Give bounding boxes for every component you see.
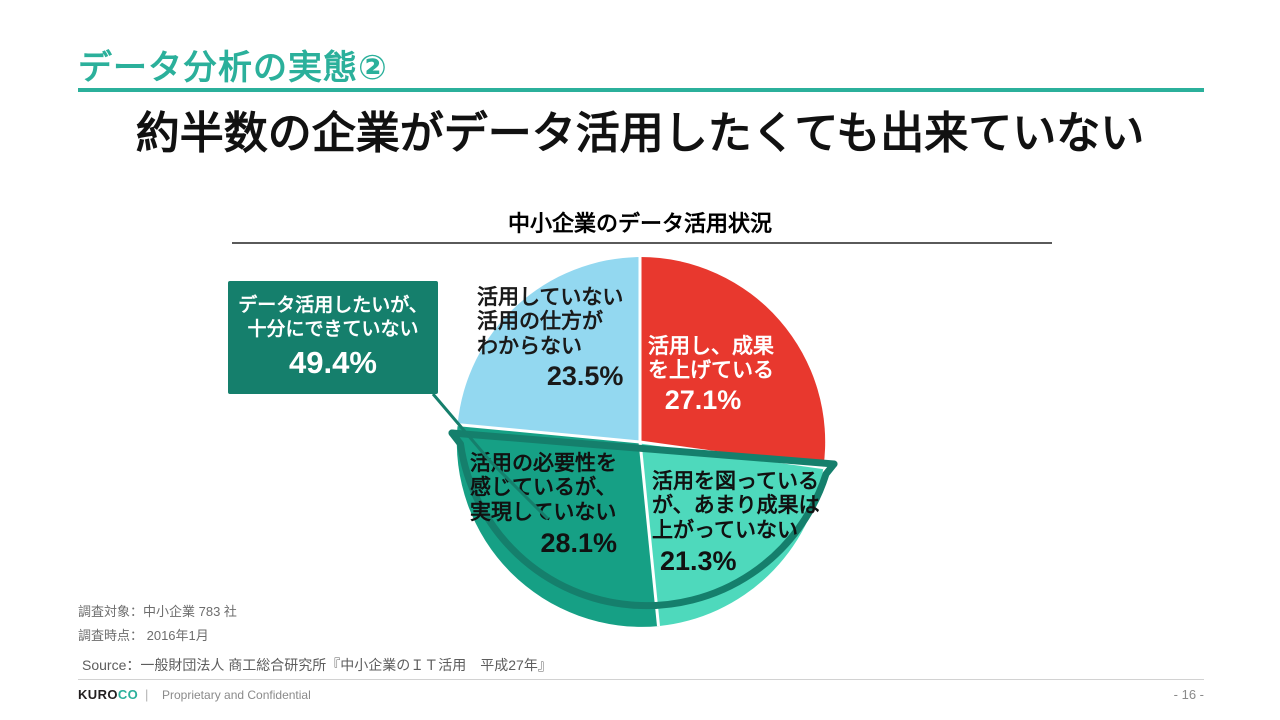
slide-headline: 約半数の企業がデータ活用したくても出来ていない — [0, 97, 1280, 161]
slice-label-blue-line1: 活用していない — [477, 286, 623, 310]
slice-label-green-line1: 活用の必要性を — [470, 452, 617, 476]
footer-divider — [78, 679, 1204, 680]
page-number: - 16 - — [1120, 687, 1204, 702]
slice-label-green-line2: 感じているが、 — [470, 476, 617, 500]
survey-note-date: 調査時点： 2016年1月 — [78, 624, 237, 648]
slice-label-teal-line2: が、あまり成果は — [652, 494, 820, 518]
callout-percent: 49.4% — [289, 345, 377, 381]
slice-label-green: 活用の必要性を 感じているが、 実現していない 28.1% — [470, 452, 617, 559]
footer-logo-accent: CO — [118, 687, 138, 702]
slice-value-red: 27.1% — [648, 385, 774, 416]
slice-value-blue: 23.5% — [477, 361, 623, 392]
header-divider — [78, 88, 1204, 92]
slice-label-red-line1: 活用し、成果 — [648, 335, 774, 359]
slice-label-blue-line3: わからない — [477, 335, 623, 359]
slide: データ分析の実態② 約半数の企業がデータ活用したくても出来ていない 中小企業のデ… — [0, 0, 1280, 720]
footer-logo: KUROCO — [78, 687, 138, 702]
slice-label-blue: 活用していない 活用の仕方が わからない 23.5% — [477, 286, 623, 392]
callout-highlight: データ活用したいが、 十分にできていない 49.4% — [228, 281, 438, 394]
chart-title: 中小企業のデータ活用状況 — [0, 206, 1280, 238]
slice-label-teal-line3: 上がっていない — [652, 519, 820, 543]
survey-note-target: 調査対象：中小企業 783 社 — [78, 600, 237, 624]
slice-value-teal: 21.3% — [652, 546, 820, 577]
slice-label-red: 活用し、成果 を上げている 27.1% — [648, 335, 774, 416]
footer-separator: | — [145, 687, 148, 702]
slice-label-blue-line2: 活用の仕方が — [477, 310, 623, 334]
slice-label-green-line3: 実現していない — [470, 501, 617, 525]
callout-line2: 十分にできていない — [247, 318, 418, 341]
survey-notes: 調査対象：中小企業 783 社 調査時点： 2016年1月 — [78, 600, 237, 648]
callout-line1: データ活用したいが、 — [238, 294, 428, 317]
source-citation: Source：一般財団法人 商工総合研究所『中小企業のＩＴ活用 平成27年』 — [82, 655, 552, 675]
chart-title-divider — [232, 242, 1052, 244]
slice-value-green: 28.1% — [470, 528, 617, 559]
slice-label-red-line2: を上げている — [648, 359, 774, 383]
section-kicker: データ分析の実態② — [78, 40, 388, 89]
slice-label-teal: 活用を図っている が、あまり成果は 上がっていない 21.3% — [652, 470, 820, 577]
slice-label-teal-line1: 活用を図っている — [652, 470, 820, 494]
footer-logo-dark: KURO — [78, 687, 118, 702]
footer-confidentiality: Proprietary and Confidential — [162, 688, 311, 702]
